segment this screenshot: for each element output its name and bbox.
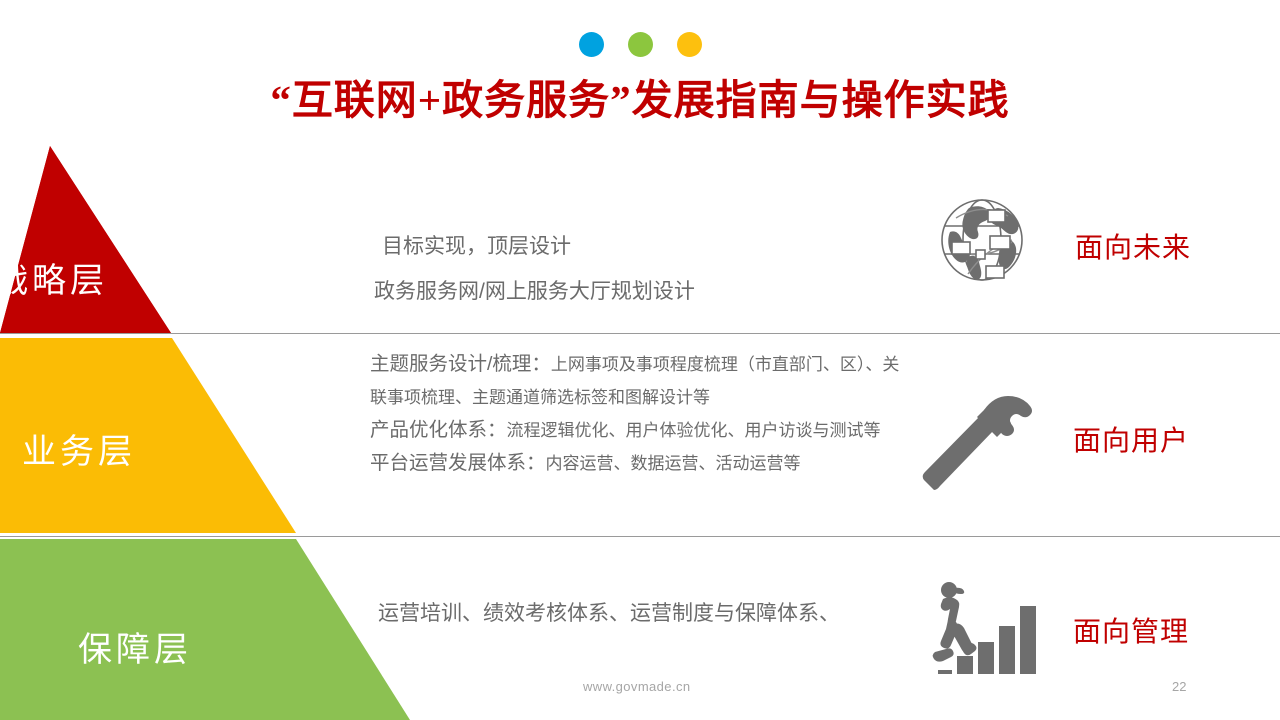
pyramid-tier-strategy[interactable]: [0, 140, 175, 333]
pyramid-tier-business-label: 业务层: [22, 424, 136, 473]
dot-yellow-icon: [677, 32, 702, 57]
slide-title: “互联网+政务服务”发展指南与操作实践: [0, 66, 1280, 126]
page-number: 22: [1172, 679, 1186, 694]
header-dots: [0, 32, 1280, 57]
strategy-line-2: 政务服务网/网上服务大厅规划设计: [374, 269, 695, 314]
pyramid-tier-guarantee[interactable]: [0, 537, 415, 720]
dot-blue-icon: [579, 32, 604, 57]
caption-business: 面向用户: [1073, 419, 1189, 459]
divider-strategy-business: [0, 333, 1280, 334]
slide-canvas: “互联网+政务服务”发展指南与操作实践 战略层 业务层 保障层 目标实现，顶层设…: [0, 0, 1280, 720]
business-text-block: 主题服务设计/梳理：上网事项及事项程度梳理（市直部门、区）、关联事项梳理、主题通…: [370, 348, 900, 480]
caption-guarantee: 面向管理: [1073, 610, 1189, 650]
pyramid-tier-strategy-label: 战略层: [0, 253, 108, 302]
business-paragraph-2: 产品优化体系：流程逻辑优化、用户体验优化、用户访谈与测试等: [370, 414, 900, 447]
business-paragraph-3-detail: 内容运营、数据运营、活动运营等: [546, 454, 801, 473]
business-paragraph-2-heading: 产品优化体系：: [370, 419, 507, 441]
hammer-icon: [922, 392, 1040, 496]
dot-green-icon: [628, 32, 653, 57]
business-paragraph-2-detail: 流程逻辑优化、用户体验优化、用户访谈与测试等: [507, 421, 881, 440]
guarantee-text-block: 运营培训、绩效考核体系、运营制度与保障体系、: [378, 592, 918, 636]
globe-network-icon: [928, 188, 1036, 292]
strategy-line-1: 目标实现，顶层设计: [382, 224, 695, 269]
pyramid-tier-guarantee-label: 保障层: [78, 622, 192, 671]
business-paragraph-1: 主题服务设计/梳理：上网事项及事项程度梳理（市直部门、区）、关联事项梳理、主题通…: [370, 348, 900, 414]
business-paragraph-1-heading: 主题服务设计/梳理：: [370, 353, 551, 375]
business-paragraph-3: 平台运营发展体系：内容运营、数据运营、活动运营等: [370, 447, 900, 480]
strategy-text-block: 目标实现，顶层设计 政务服务网/网上服务大厅规划设计: [382, 224, 695, 314]
growth-steps-icon: [930, 578, 1040, 682]
guarantee-paragraph-1: 运营培训、绩效考核体系、运营制度与保障体系、: [378, 592, 918, 636]
business-paragraph-3-heading: 平台运营发展体系：: [370, 452, 546, 474]
caption-strategy: 面向未来: [1075, 226, 1191, 266]
footer-url: www.govmade.cn: [583, 679, 690, 694]
